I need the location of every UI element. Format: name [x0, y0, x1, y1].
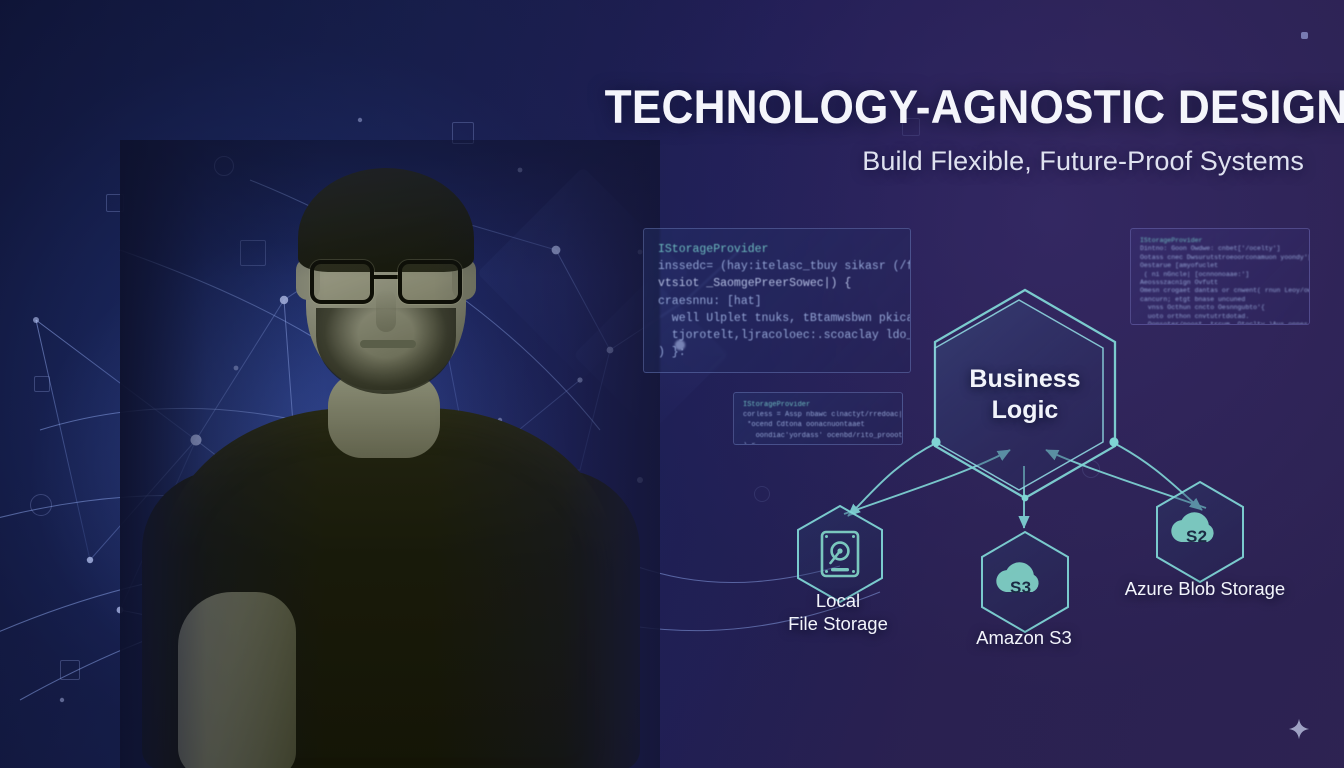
azure-blob-label: Azure Blob Storage	[1112, 578, 1298, 601]
business-logic-label-line2: Logic	[930, 395, 1120, 426]
local-storage-label-line2: File Storage	[758, 613, 918, 636]
connector-to-local	[848, 442, 938, 516]
local-storage-hex	[798, 506, 882, 602]
slide-canvas: TECHNOLOGY-AGNOSTIC DESIGN Build Flexibl…	[0, 0, 1344, 768]
business-logic-label: Business Logic	[930, 364, 1120, 425]
presenter-edge-fade	[120, 140, 660, 768]
amazon-s3-label-line1: Amazon S3	[944, 627, 1104, 650]
code-line: IStorageProvider	[658, 241, 896, 258]
page-title: TECHNOLOGY-AGNOSTIC DESIGN	[605, 82, 1304, 132]
local-storage-label: Local File Storage	[758, 590, 918, 635]
azure-blob-label-line1: Azure Blob Storage	[1112, 578, 1298, 601]
amazon-s3-label: Amazon S3	[944, 627, 1104, 650]
heading-block: TECHNOLOGY-AGNOSTIC DESIGN Build Flexibl…	[560, 82, 1304, 177]
four-point-star-icon	[1288, 718, 1310, 740]
business-logic-label-line1: Business	[930, 364, 1120, 395]
code-line: IStorageProvider	[1140, 237, 1300, 245]
code-line: Ootass cnec Dwsurutstroeoorconamuon yoon…	[1140, 254, 1300, 262]
azure-blob-badge: S2	[1186, 527, 1207, 547]
code-line: Dintno: Goon Owdwe: cnbet['/ocelty']	[1140, 245, 1300, 253]
presenter-photo	[120, 140, 660, 768]
page-subtitle: Build Flexible, Future-Proof Systems	[560, 146, 1304, 177]
amazon-s3-badge: S3	[1010, 578, 1031, 598]
local-storage-label-line1: Local	[758, 590, 918, 613]
